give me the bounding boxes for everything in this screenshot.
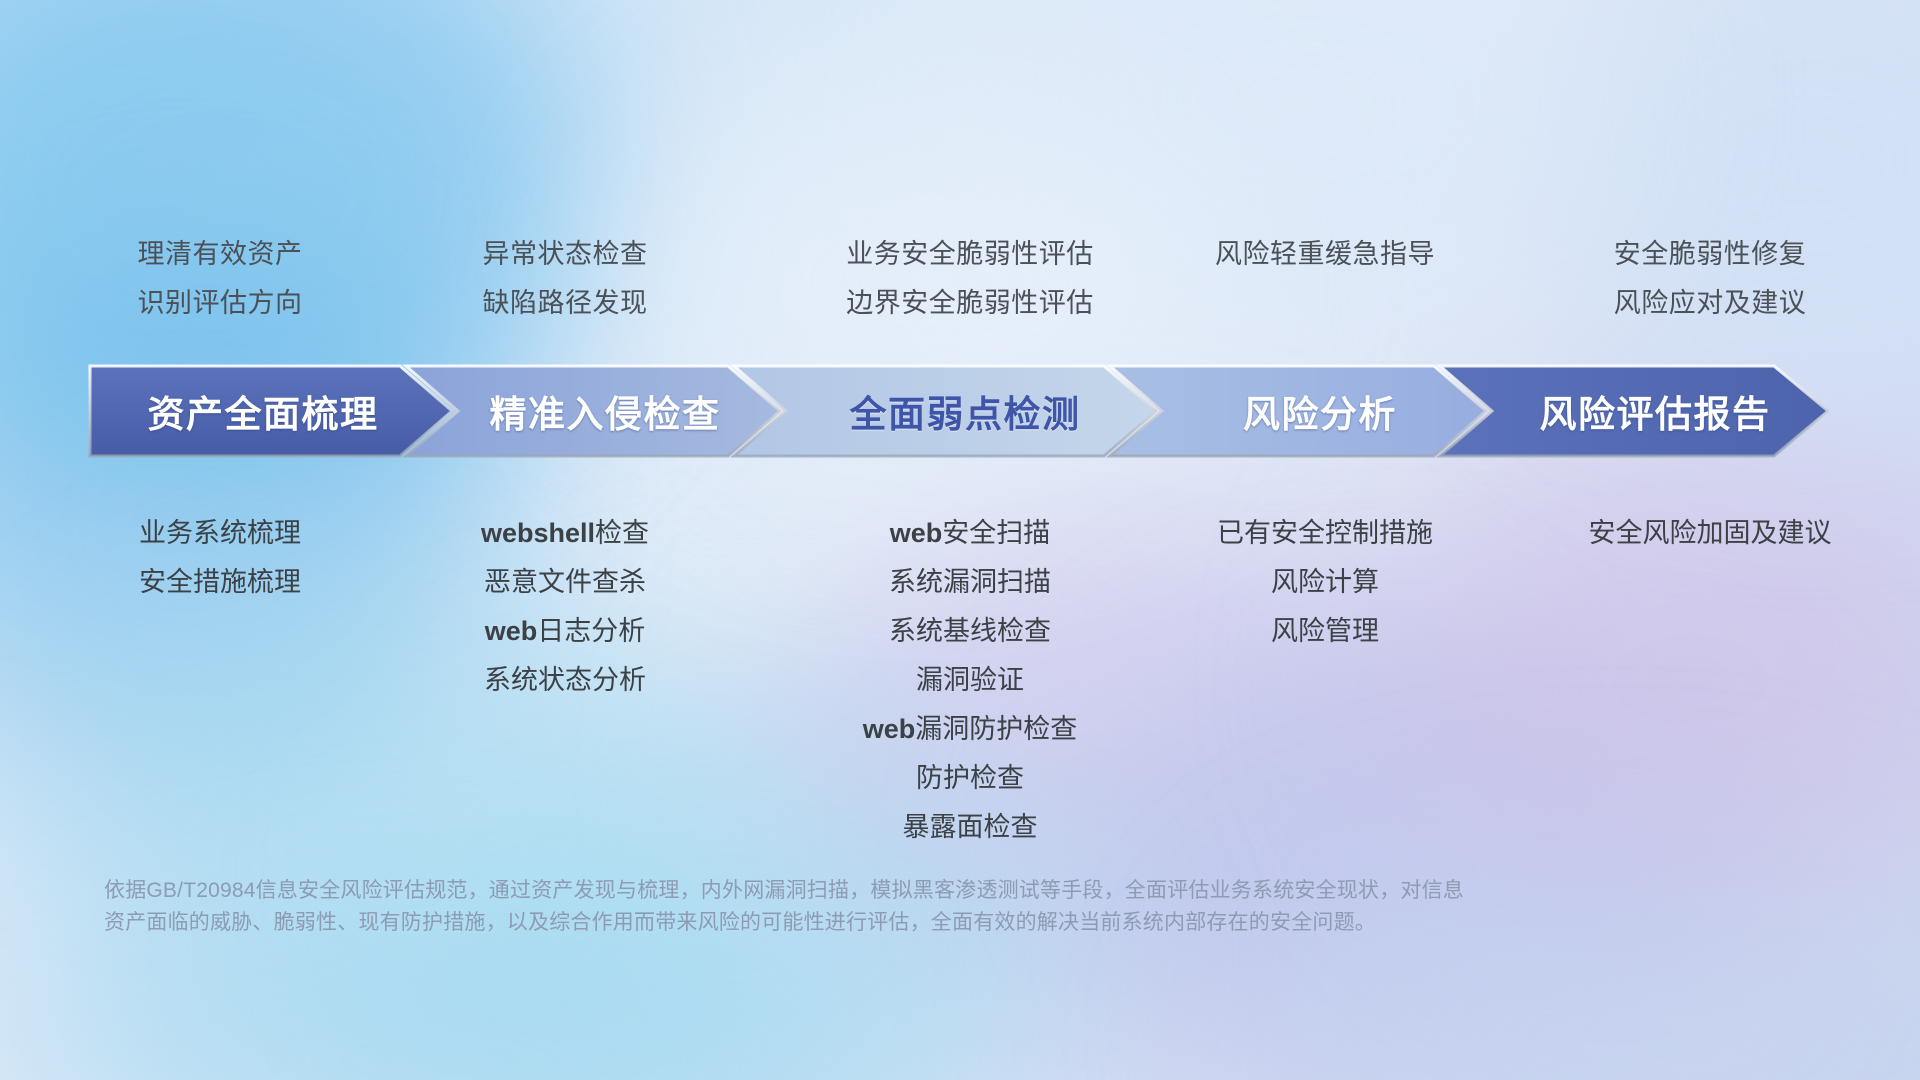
list-item-text: 系统状态分析 xyxy=(484,665,646,695)
top-labels-asset-review: 理清有效资产 识别评估方向 xyxy=(60,230,380,328)
top-label-line: 业务安全脆弱性评估 xyxy=(790,230,1150,279)
list-item-text: 检查 xyxy=(595,518,649,548)
top-labels-risk-analysis: 风险轻重缓急指导 xyxy=(1155,230,1495,279)
list-item-text: 漏洞验证 xyxy=(916,665,1024,695)
list-item-text: 风险计算 xyxy=(1271,567,1379,597)
list-item: 恶意文件查杀 xyxy=(405,558,725,607)
list-item: 风险管理 xyxy=(1155,607,1495,656)
list-item-text: 系统漏洞扫描 xyxy=(889,567,1051,597)
top-label-line: 风险轻重缓急指导 xyxy=(1155,230,1495,279)
list-item-text: 安全扫描 xyxy=(942,518,1050,548)
top-labels-weakness-detection: 业务安全脆弱性评估 边界安全脆弱性评估 xyxy=(790,230,1150,328)
list-item: 漏洞验证 xyxy=(790,656,1150,705)
top-label-line: 缺陷路径发现 xyxy=(405,279,725,328)
list-item: 系统基线检查 xyxy=(790,607,1150,656)
list-item: web安全扫描 xyxy=(790,509,1150,558)
footer-line-1: 依据GB/T20984信息安全风险评估规范，通过资产发现与梳理，内外网漏洞扫描，… xyxy=(104,875,1824,907)
top-label-line: 识别评估方向 xyxy=(60,279,380,328)
list-item-text: 防护检查 xyxy=(916,763,1024,793)
list-item-prefix: webshell xyxy=(481,518,595,548)
top-label-line: 理清有效资产 xyxy=(60,230,380,279)
top-label-line: 边界安全脆弱性评估 xyxy=(790,279,1150,328)
list-item-text: 安全风险加固及建议 xyxy=(1589,518,1832,548)
list-item-text: 已有安全控制措施 xyxy=(1217,518,1433,548)
list-item-text: 风险管理 xyxy=(1271,616,1379,646)
list-item-prefix: web xyxy=(485,616,538,646)
list-item-text: 系统基线检查 xyxy=(889,616,1051,646)
list-item: 暴露面检查 xyxy=(790,803,1150,852)
list-item-text: 暴露面检查 xyxy=(903,812,1038,842)
top-label-line: 风险应对及建议 xyxy=(1540,279,1880,328)
item-list-asset-review: 业务系统梳理安全措施梳理 xyxy=(60,509,380,607)
top-label-line: 安全脆弱性修复 xyxy=(1540,230,1880,279)
top-labels-assessment-report: 安全脆弱性修复 风险应对及建议 xyxy=(1540,230,1880,328)
list-item: 系统漏洞扫描 xyxy=(790,558,1150,607)
item-list-risk-analysis: 已有安全控制措施风险计算风险管理 xyxy=(1155,509,1495,656)
top-label-line: 异常状态检查 xyxy=(405,230,725,279)
list-item: 系统状态分析 xyxy=(405,656,725,705)
list-item: web漏洞防护检查 xyxy=(790,705,1150,754)
list-item-text: 日志分析 xyxy=(537,616,645,646)
list-item: 安全风险加固及建议 xyxy=(1540,509,1880,558)
list-item: 防护检查 xyxy=(790,754,1150,803)
list-item: web日志分析 xyxy=(405,607,725,656)
list-item-prefix: web xyxy=(890,518,943,548)
item-list-weakness-detection: web安全扫描系统漏洞扫描系统基线检查漏洞验证web漏洞防护检查防护检查暴露面检… xyxy=(790,509,1150,852)
list-item: 业务系统梳理 xyxy=(60,509,380,558)
list-item: 已有安全控制措施 xyxy=(1155,509,1495,558)
list-item: 安全措施梳理 xyxy=(60,558,380,607)
list-item-prefix: web xyxy=(863,714,916,744)
top-labels-intrusion-check: 异常状态检查 缺陷路径发现 xyxy=(405,230,725,328)
item-list-assessment-report: 安全风险加固及建议 xyxy=(1540,509,1880,558)
footer-description: 依据GB/T20984信息安全风险评估规范，通过资产发现与梳理，内外网漏洞扫描，… xyxy=(104,875,1824,939)
item-list-intrusion-check: webshell检查恶意文件查杀web日志分析系统状态分析 xyxy=(405,509,725,705)
list-item-text: 恶意文件查杀 xyxy=(484,567,646,597)
list-item: 风险计算 xyxy=(1155,558,1495,607)
footer-line-2: 资产面临的威胁、脆弱性、现有防护措施，以及综合作用而带来风险的可能性进行评估，全… xyxy=(104,907,1824,939)
list-item-text: 漏洞防护检查 xyxy=(915,714,1077,744)
list-item-text: 安全措施梳理 xyxy=(139,567,301,597)
list-item: webshell检查 xyxy=(405,509,725,558)
process-chevron-band xyxy=(0,362,1920,460)
list-item-text: 业务系统梳理 xyxy=(139,518,301,548)
